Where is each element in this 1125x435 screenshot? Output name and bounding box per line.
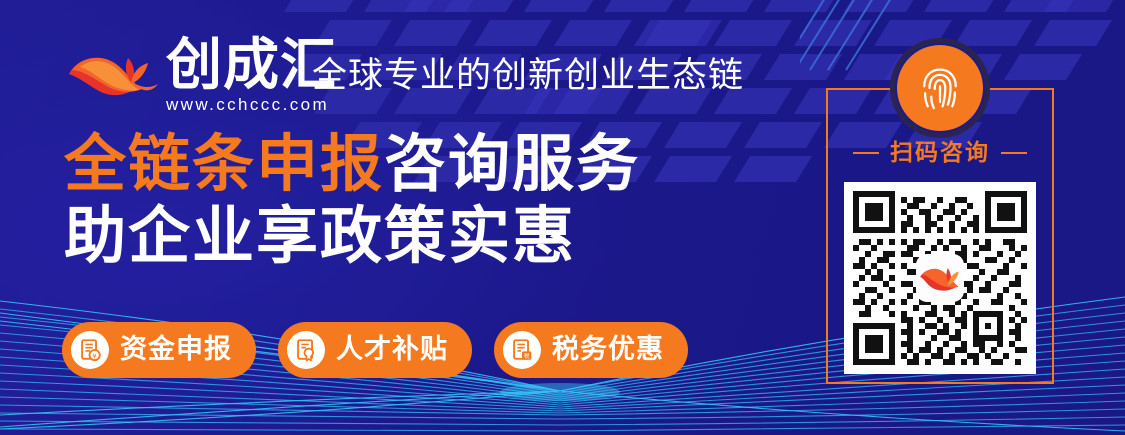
scan-dash-right (1001, 152, 1027, 154)
service-badge-talent[interactable]: 人才补贴 (278, 322, 472, 378)
left-content: 创成汇 www.cchccc.com 全球专业的创新创业生态链 全链条申报咨询服… (0, 0, 800, 435)
scan-dash-left (853, 152, 879, 154)
headline-accent-text: 全链条申报 (64, 127, 384, 200)
brand-tagline: 全球专业的创新创业生态链 (312, 56, 744, 96)
scan-prompt-label: 扫码咨询 (890, 140, 990, 166)
certificate-award-icon (287, 331, 325, 369)
service-badge-label: 税务优惠 (552, 335, 664, 365)
promo-banner: 创成汇 www.cchccc.com 全球专业的创新创业生态链 全链条申报咨询服… (0, 0, 1125, 435)
svg-text:¥: ¥ (92, 352, 97, 360)
headline-block: 全链条申报咨询服务 助企业享政策实惠 (64, 128, 640, 272)
headline-plain-text: 咨询服务 (384, 127, 640, 200)
fingerprint-icon (897, 45, 983, 131)
funding-document-icon: ¥ (71, 331, 109, 369)
headline-line-2: 助企业享政策实惠 (64, 200, 640, 272)
qr-code-image[interactable] (844, 182, 1036, 374)
service-badge-label: 资金申报 (120, 335, 232, 365)
scan-prompt-row: 扫码咨询 (826, 140, 1054, 166)
svg-text:税: 税 (524, 352, 530, 360)
service-badge-list: ¥ 资金申报 人才补贴 (62, 322, 688, 378)
brand-logo[interactable]: 创成汇 www.cchccc.com (66, 38, 337, 114)
phoenix-bird-mark-icon (66, 40, 162, 112)
service-badge-label: 人才补贴 (336, 335, 448, 365)
headline-line-1: 全链条申报咨询服务 (64, 128, 640, 200)
tax-document-icon: 税 (503, 331, 541, 369)
service-badge-tax[interactable]: 税 税务优惠 (494, 322, 688, 378)
qr-consult-panel: 扫码咨询 (826, 88, 1054, 384)
brand-url: www.cchccc.com (166, 96, 337, 114)
qr-center-logo (918, 256, 962, 300)
fingerprint-badge (890, 38, 990, 138)
service-badge-funding[interactable]: ¥ 资金申报 (62, 322, 256, 378)
